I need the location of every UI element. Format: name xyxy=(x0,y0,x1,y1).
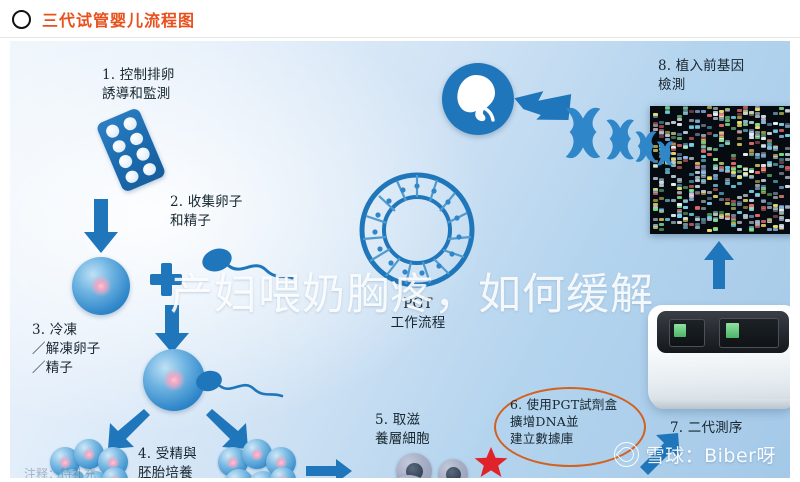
sequencing-machine-icon xyxy=(648,297,790,409)
chromosome-x-icon xyxy=(558,103,676,177)
arrow-to-sequencer xyxy=(638,433,682,477)
step-5-label: 5. 取滋 養層細胞 xyxy=(375,411,430,449)
sperm-icon xyxy=(202,246,294,288)
step-3-label: 3. 冷凍 ／解凍卵子 ／精子 xyxy=(32,321,101,378)
fetus-badge-icon xyxy=(442,63,514,135)
header-divider xyxy=(0,37,800,38)
embryo-cluster-icon xyxy=(218,439,296,478)
step-6-label: 6. 使用PGT試劑盒 擴增DNA並 建立數據庫 xyxy=(510,396,617,447)
red-star-icon xyxy=(474,447,508,478)
arrow-step1-to-egg xyxy=(84,199,118,253)
arrow-to-fertilisation xyxy=(155,305,189,353)
arrow-to-gel xyxy=(704,241,734,289)
page-title: 三代试管婴儿流程图 xyxy=(42,7,195,31)
step-2-label: 2. 收集卵子 和精子 xyxy=(170,193,243,231)
circle-outline-icon xyxy=(12,10,31,29)
blastocyst-icon xyxy=(358,171,476,289)
flowchart-figure: 1. 控制排卵 誘導和監測 2. 收集卵子 和精子 3. 冷凍 ／解凍卵子 ／精… xyxy=(10,41,790,478)
cut-off-caption: 注释：待补充 xyxy=(24,465,96,478)
sperm-fertilising-icon xyxy=(196,368,284,404)
step-4-label: 4. 受精與 胚胎培養 xyxy=(138,445,197,478)
step-1-label: 1. 控制排卵 誘導和監測 xyxy=(102,66,175,104)
screenshot-root: 三代试管婴儿流程图 1. 控制排卵 誘導和監測 2. 收集卵子 和精子 3. 冷… xyxy=(0,0,800,482)
step-8-label: 8. 植入前基因 檢測 xyxy=(658,57,744,95)
page-header: 三代试管婴儿流程图 xyxy=(0,0,800,38)
plus-sign-icon xyxy=(150,263,182,296)
step-7-label: 7. 二代測序 xyxy=(670,419,743,438)
pill-blister-pack-icon xyxy=(95,107,166,193)
pgt-center-label: PGT 工作流程 xyxy=(366,295,470,333)
oocyte-icon xyxy=(72,257,130,315)
arrow-to-step5 xyxy=(306,459,352,478)
